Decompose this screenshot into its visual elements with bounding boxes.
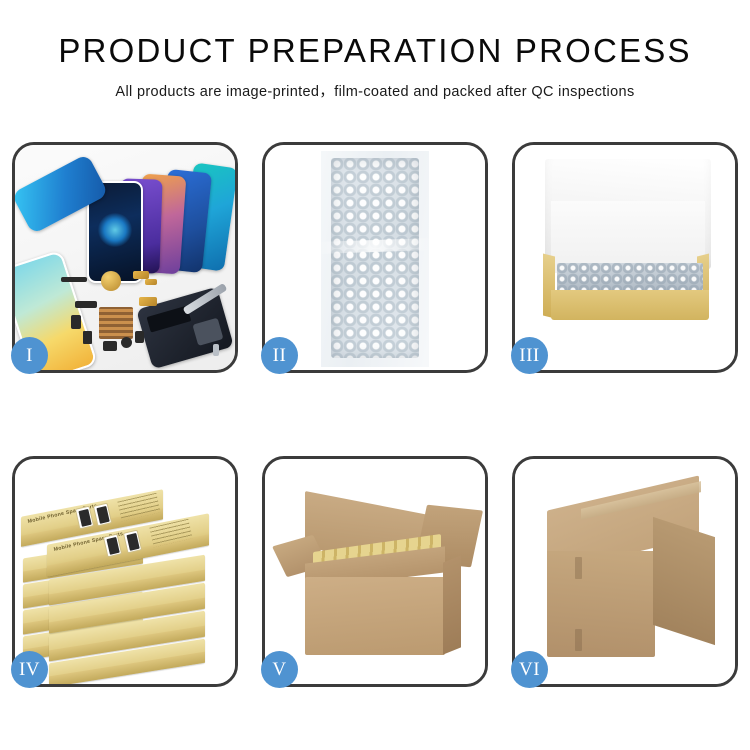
page-title: PRODUCT PREPARATION PROCESS [0, 34, 750, 69]
small-part-6-icon [83, 331, 92, 344]
small-part-8-icon [121, 337, 132, 348]
step-panel-4: Mobile Phone Spare Parts Mobile Phone Sp… [12, 456, 238, 687]
small-part-4-icon [75, 301, 97, 308]
bubble-wrapped-product-icon [557, 263, 703, 293]
connector-grid-part-icon [99, 307, 133, 339]
step-panel-3: III [512, 142, 738, 373]
step-panel-5: V [262, 456, 488, 687]
step-image-stacked-boxes: Mobile Phone Spare Parts Mobile Phone Sp… [15, 459, 235, 684]
carton-seam-top [575, 557, 582, 579]
step-image-carton-filled [265, 459, 485, 684]
step-badge-5: V [261, 651, 298, 688]
sealed-carton-side [653, 517, 715, 645]
small-part-1-icon [61, 277, 87, 282]
small-part-2-icon [133, 271, 149, 279]
sealed-carton-front [547, 551, 655, 657]
step-panel-6: VI [512, 456, 738, 687]
product-preparation-infographic: PRODUCT PREPARATION PROCESS All products… [0, 0, 750, 750]
bubble-wrap-icon [331, 158, 419, 358]
step-badge-4: IV [11, 651, 48, 688]
header: PRODUCT PREPARATION PROCESS All products… [0, 0, 750, 101]
step-badge-6: VI [511, 651, 548, 688]
small-part-3-icon [145, 279, 157, 285]
small-part-7-icon [103, 341, 117, 351]
speaker-part-icon [101, 271, 121, 291]
carton-front-wall [305, 577, 445, 655]
carton-side-wall [443, 555, 461, 654]
box-stack: Mobile Phone Spare Parts Mobile Phone Sp… [15, 467, 235, 682]
step-badge-2: II [261, 337, 298, 374]
step-panel-2: II [262, 142, 488, 373]
step-badge-3: III [511, 337, 548, 374]
step-image-phones-and-parts [15, 145, 235, 370]
inner-box-front-wall [551, 290, 709, 320]
small-part-9-icon [135, 331, 144, 343]
small-part-5-icon [71, 315, 81, 329]
step-image-bubble-wrap [265, 145, 485, 370]
step-panel-1: I [12, 142, 238, 373]
carton-seam-bottom [575, 629, 582, 651]
page-subtitle: All products are image-printed，film-coat… [0, 80, 750, 101]
step-badge-1: I [11, 337, 48, 374]
step-image-carton-sealed [515, 459, 735, 684]
small-part-10-icon [139, 297, 157, 306]
step-image-inner-box [515, 145, 735, 370]
screw-icon [213, 344, 219, 356]
steps-grid: I II III [12, 142, 738, 687]
